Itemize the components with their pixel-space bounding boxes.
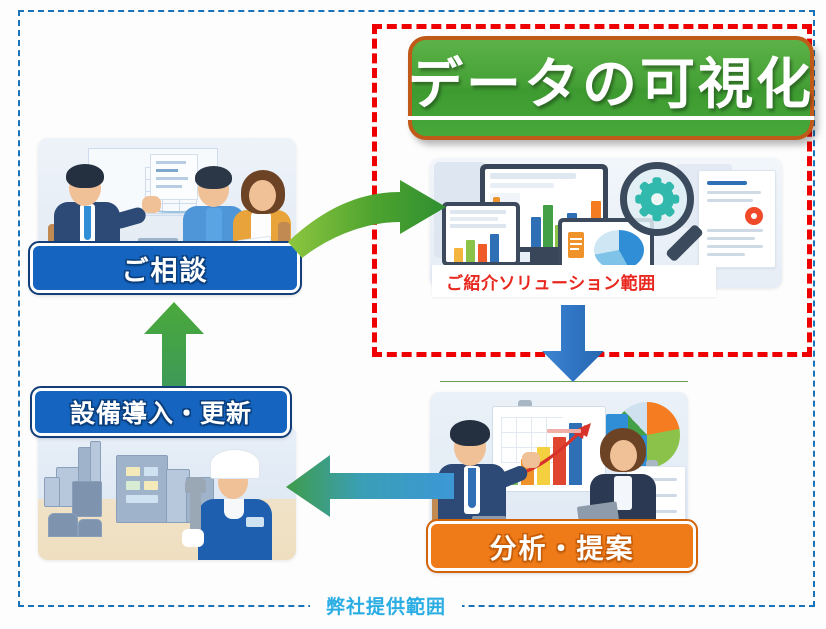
blue-down-arrow-icon — [536, 305, 610, 383]
diagram-canvas: 弊社提供範囲 — [0, 0, 826, 629]
whiteboard-note-icon — [150, 154, 198, 200]
company-scope-label: 弊社提供範囲 — [310, 595, 462, 621]
headline-banner-data-visualization[interactable]: データの可視化 — [408, 36, 814, 140]
step-label-consultation[interactable]: ご相談 — [30, 243, 300, 293]
green-curved-right-arrow-icon — [288, 180, 448, 260]
tablet-icon — [442, 202, 520, 266]
step-label-analysis-text: 分析・提案 — [490, 527, 635, 566]
magnifier-icon — [616, 160, 712, 264]
solution-scope-caption-text: ご紹介ソリューション範囲 — [446, 269, 656, 294]
gear-icon — [640, 182, 674, 216]
headline-banner-text: データの可視化 — [408, 57, 814, 120]
green-up-arrow-icon — [140, 300, 208, 388]
solution-scope-caption: ご紹介ソリューション範囲 — [432, 265, 716, 297]
step-label-consultation-text: ご相談 — [122, 249, 209, 288]
step-label-analysis[interactable]: 分析・提案 — [428, 521, 696, 571]
step-label-equipment[interactable]: 設備導入・更新 — [32, 388, 290, 436]
step-label-equipment-text: 設備導入・更新 — [70, 394, 252, 430]
gradient-left-arrow-icon — [284, 443, 454, 525]
step-label-data: データの可視化 — [0, 0, 1, 1]
factory-illustration — [38, 425, 296, 560]
analysis-illustration — [430, 392, 688, 540]
